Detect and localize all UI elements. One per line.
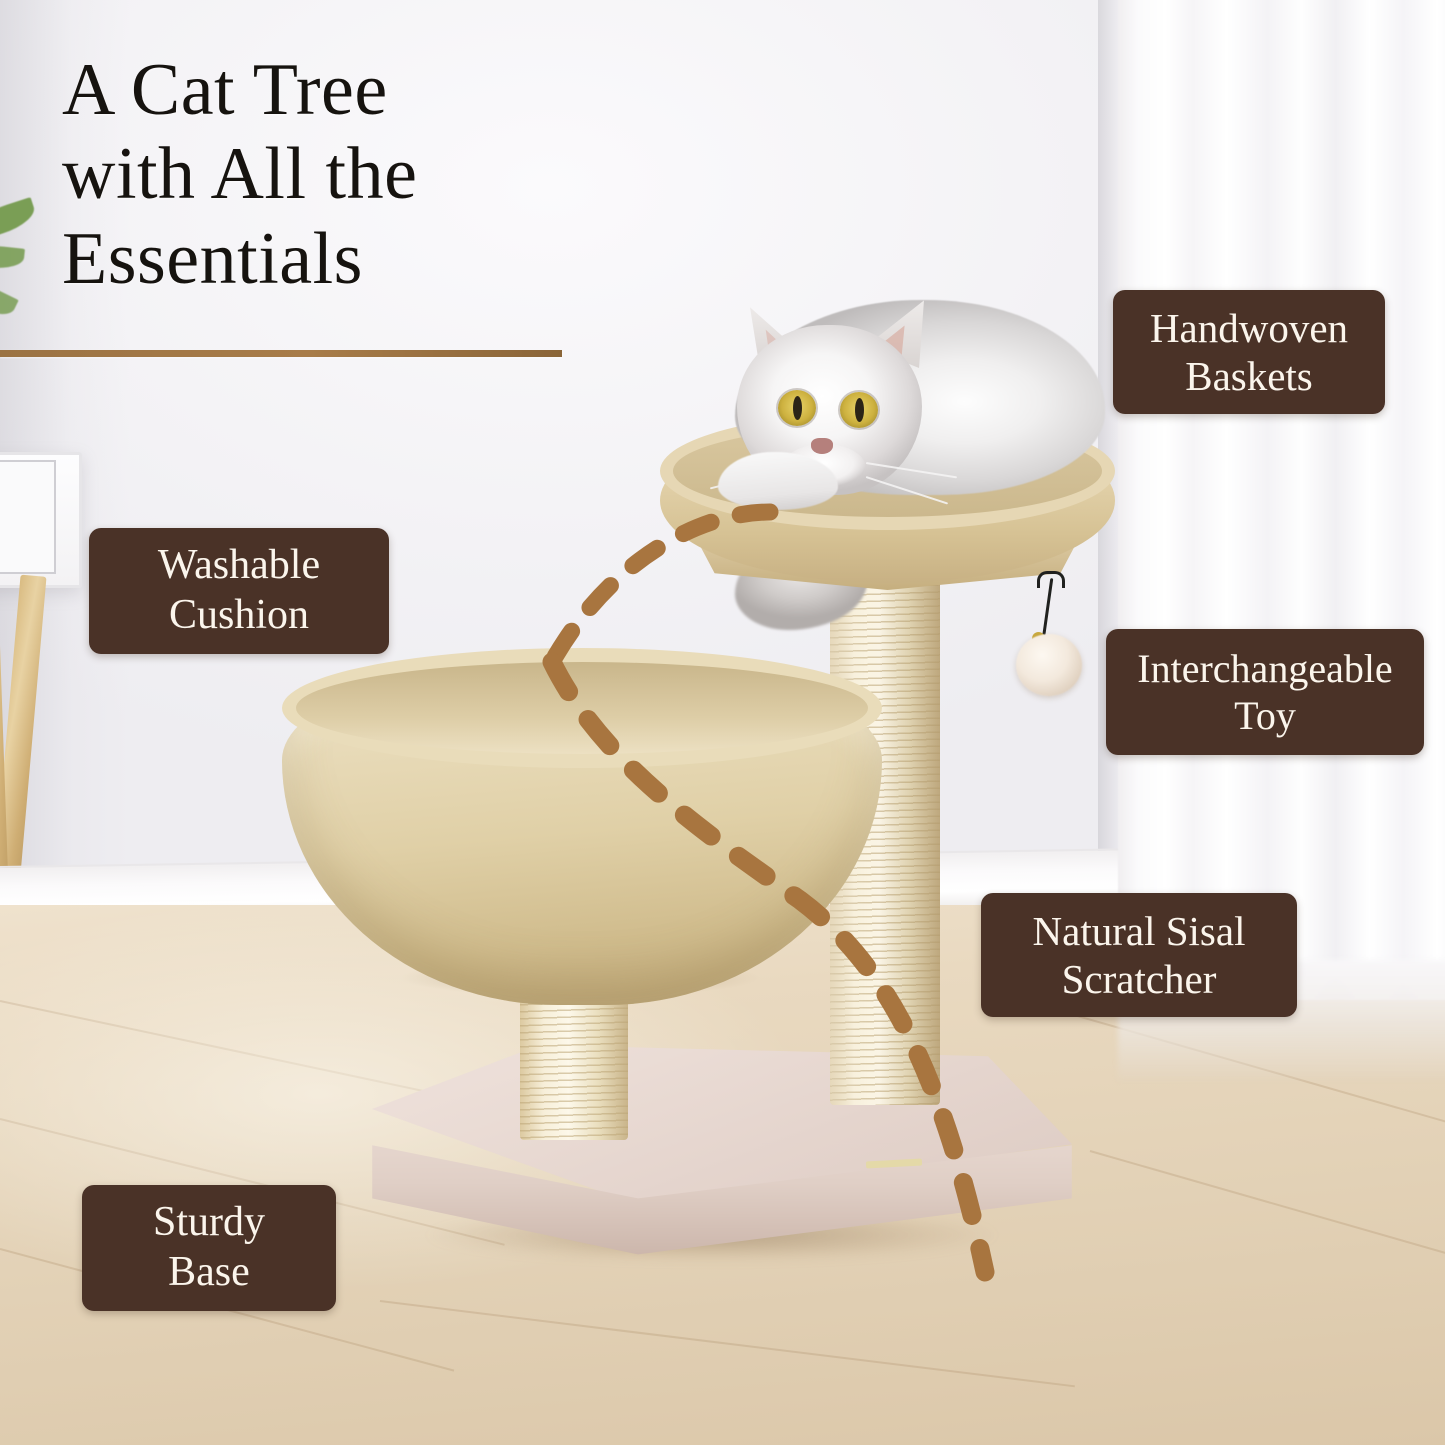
cat-nose xyxy=(811,438,833,454)
callout-sturdy-base[interactable]: Sturdy Base xyxy=(82,1185,336,1311)
callout-line-1: Interchangeable xyxy=(1137,645,1392,692)
headline-line-3: Essentials xyxy=(62,217,582,301)
infographic-canvas: A Cat Tree with All the Essentials Handw… xyxy=(0,0,1445,1445)
headline-line-1: A Cat Tree xyxy=(62,48,582,132)
callout-line-1: Handwoven xyxy=(1150,304,1348,352)
sheer-curtain xyxy=(1118,0,1445,1000)
callout-line-2: Cushion xyxy=(158,591,320,641)
lower-basket-rim xyxy=(282,648,882,768)
callout-handwoven-baskets[interactable]: Handwoven Baskets xyxy=(1113,290,1385,414)
callout-line-1: Natural Sisal xyxy=(1033,907,1246,955)
callout-line-1: Sturdy xyxy=(153,1198,265,1248)
cat-pupil-left xyxy=(793,396,802,420)
callout-line-2: Base xyxy=(153,1248,265,1298)
callout-natural-sisal-scratcher[interactable]: Natural Sisal Scratcher xyxy=(981,893,1297,1017)
callout-interchangeable-toy[interactable]: Interchangeable Toy xyxy=(1106,629,1424,755)
side-cabinet-panel xyxy=(0,460,56,574)
callout-line-2: Baskets xyxy=(1150,352,1348,400)
page-title: A Cat Tree with All the Essentials xyxy=(62,48,582,301)
title-divider xyxy=(0,350,562,357)
callout-line-2: Scratcher xyxy=(1033,955,1246,1003)
callout-line-2: Toy xyxy=(1137,692,1392,739)
callout-washable-cushion[interactable]: Washable Cushion xyxy=(89,528,389,654)
headline-line-2: with All the xyxy=(62,132,582,216)
callout-line-1: Washable xyxy=(158,541,320,591)
pom-pom-toy xyxy=(1016,634,1082,696)
cat-pupil-right xyxy=(855,398,864,422)
